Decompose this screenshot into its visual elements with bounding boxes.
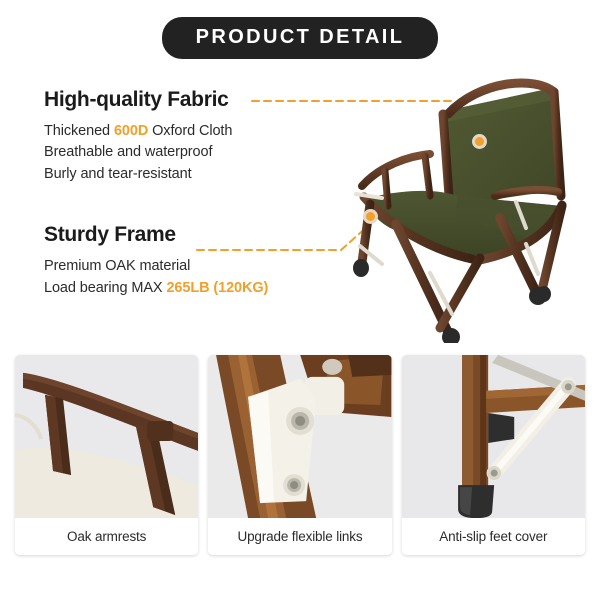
text-segment: Load bearing MAX xyxy=(44,280,166,296)
detail-card-links[interactable]: Upgrade flexible links xyxy=(208,355,391,555)
detail-card-armrests[interactable]: Oak armrests xyxy=(15,355,198,555)
detail-card-list: Oak armrests xyxy=(15,355,585,555)
feature-lines-fabric: Thickened 600D Oxford Cloth Breathable a… xyxy=(44,121,344,185)
feature-line: Breathable and waterproof xyxy=(44,142,344,163)
detail-card-feet[interactable]: Anti-slip feet cover xyxy=(402,355,585,555)
feature-title-frame: Sturdy Frame xyxy=(44,223,176,247)
product-detail-page: PRODUCT DETAIL High-quality Fabric Thick… xyxy=(0,0,600,600)
card-image-links xyxy=(208,355,391,518)
text-segment: Oxford Cloth xyxy=(148,123,232,139)
feature-title-fabric: High-quality Fabric xyxy=(44,88,228,112)
card-caption-links: Upgrade flexible links xyxy=(208,518,391,555)
feature-frame: Sturdy Frame Premium OAK material Load b… xyxy=(44,223,344,299)
feature-lines-frame: Premium OAK material Load bearing MAX 26… xyxy=(44,256,344,299)
card-image-feet xyxy=(402,355,585,518)
feature-line: Premium OAK material xyxy=(44,256,344,277)
fabric-marker-icon xyxy=(472,134,487,149)
highlight-load-capacity: 265LB (120KG) xyxy=(166,280,268,296)
feature-list: High-quality Fabric Thickened 600D Oxfor… xyxy=(44,88,344,325)
header: PRODUCT DETAIL xyxy=(0,17,600,59)
page-title: PRODUCT DETAIL xyxy=(162,17,439,59)
card-caption-feet: Anti-slip feet cover xyxy=(402,518,585,555)
feature-line: Thickened 600D Oxford Cloth xyxy=(44,121,344,142)
text-segment: Thickened xyxy=(44,123,114,139)
frame-marker-icon xyxy=(363,209,378,224)
feature-line: Load bearing MAX 265LB (120KG) xyxy=(44,278,344,299)
feature-line: Burly and tear-resistant xyxy=(44,164,344,185)
card-caption-armrests: Oak armrests xyxy=(15,518,198,555)
feature-fabric: High-quality Fabric Thickened 600D Oxfor… xyxy=(44,88,344,185)
highlight-600d: 600D xyxy=(114,123,148,139)
card-image-armrests xyxy=(15,355,198,518)
